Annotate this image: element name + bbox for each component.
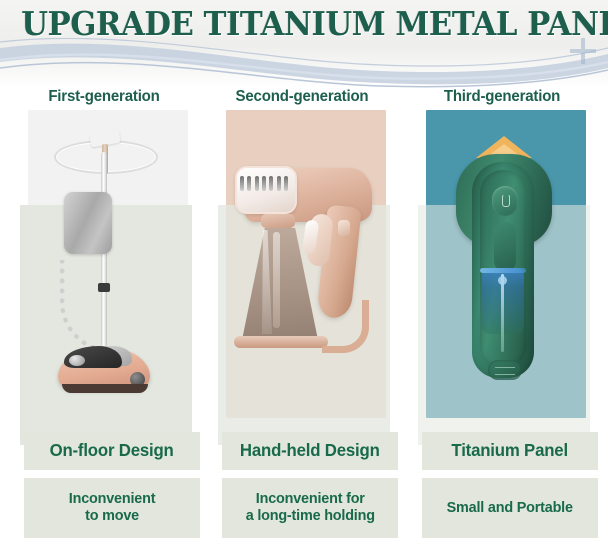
column-heading: First-generation <box>9 88 199 106</box>
pole-clip <box>98 283 110 292</box>
standing-garment-steamer-icon <box>6 110 202 422</box>
label-main-text: Hand-held Design <box>240 441 380 461</box>
label-sub-line1: Inconvenient <box>69 491 156 508</box>
power-button <box>338 220 350 236</box>
water-level-line <box>480 268 526 273</box>
tank-neck <box>261 214 295 228</box>
plus-icon <box>570 38 596 64</box>
control-knob <box>69 355 85 366</box>
comparison-columns: First-generation <box>0 88 608 556</box>
label-sub-line2: to move <box>69 508 156 525</box>
column-second-generation: Second-generation <box>204 88 400 556</box>
label-card-sub: Inconvenient to move <box>24 478 200 538</box>
label-card-main: Hand-held Design <box>222 432 398 470</box>
product-image-compact-steamer <box>404 110 600 422</box>
label-card-sub: Small and Portable <box>422 478 598 538</box>
label-main-text: On-floor Design <box>50 441 174 461</box>
compact-titanium-steamer-icon <box>404 110 600 422</box>
power-button <box>492 186 518 216</box>
water-gauge <box>501 274 504 352</box>
bottom-vent <box>488 360 522 380</box>
tank-base <box>234 336 328 348</box>
product-image-standing-steamer <box>6 110 202 422</box>
water-droplet <box>498 276 507 285</box>
label-sub-line1: Inconvenient for <box>245 491 374 508</box>
column-heading: Third-generation <box>407 88 597 106</box>
infographic-page: UPGRADE TITANIUM METAL PANEL First-gener… <box>0 0 608 556</box>
label-card-main: Titanium Panel <box>422 432 598 470</box>
steam-hose <box>60 260 111 353</box>
column-third-generation: Third-generation <box>404 88 600 556</box>
base-foot <box>62 384 148 393</box>
tank-tube <box>273 232 280 328</box>
header-banner: UPGRADE TITANIUM METAL PANEL <box>0 0 608 88</box>
steam-button <box>494 222 516 272</box>
column-heading: Second-generation <box>207 88 397 106</box>
handheld-steamer-icon <box>204 110 400 422</box>
label-sub-line1: Small and Portable <box>447 500 573 517</box>
product-image-handheld-steamer <box>204 110 400 422</box>
label-main-text: Titanium Panel <box>452 441 569 461</box>
label-card-main: On-floor Design <box>24 432 200 470</box>
column-first-generation: First-generation <box>6 88 202 556</box>
label-card-sub: Inconvenient for a long-time holding <box>222 478 398 538</box>
label-sub-line2: a long-time holding <box>245 508 374 525</box>
power-cord <box>322 300 369 353</box>
wave-decoration-icon <box>0 38 608 88</box>
steam-holes <box>240 174 288 192</box>
ironing-board <box>64 192 112 254</box>
